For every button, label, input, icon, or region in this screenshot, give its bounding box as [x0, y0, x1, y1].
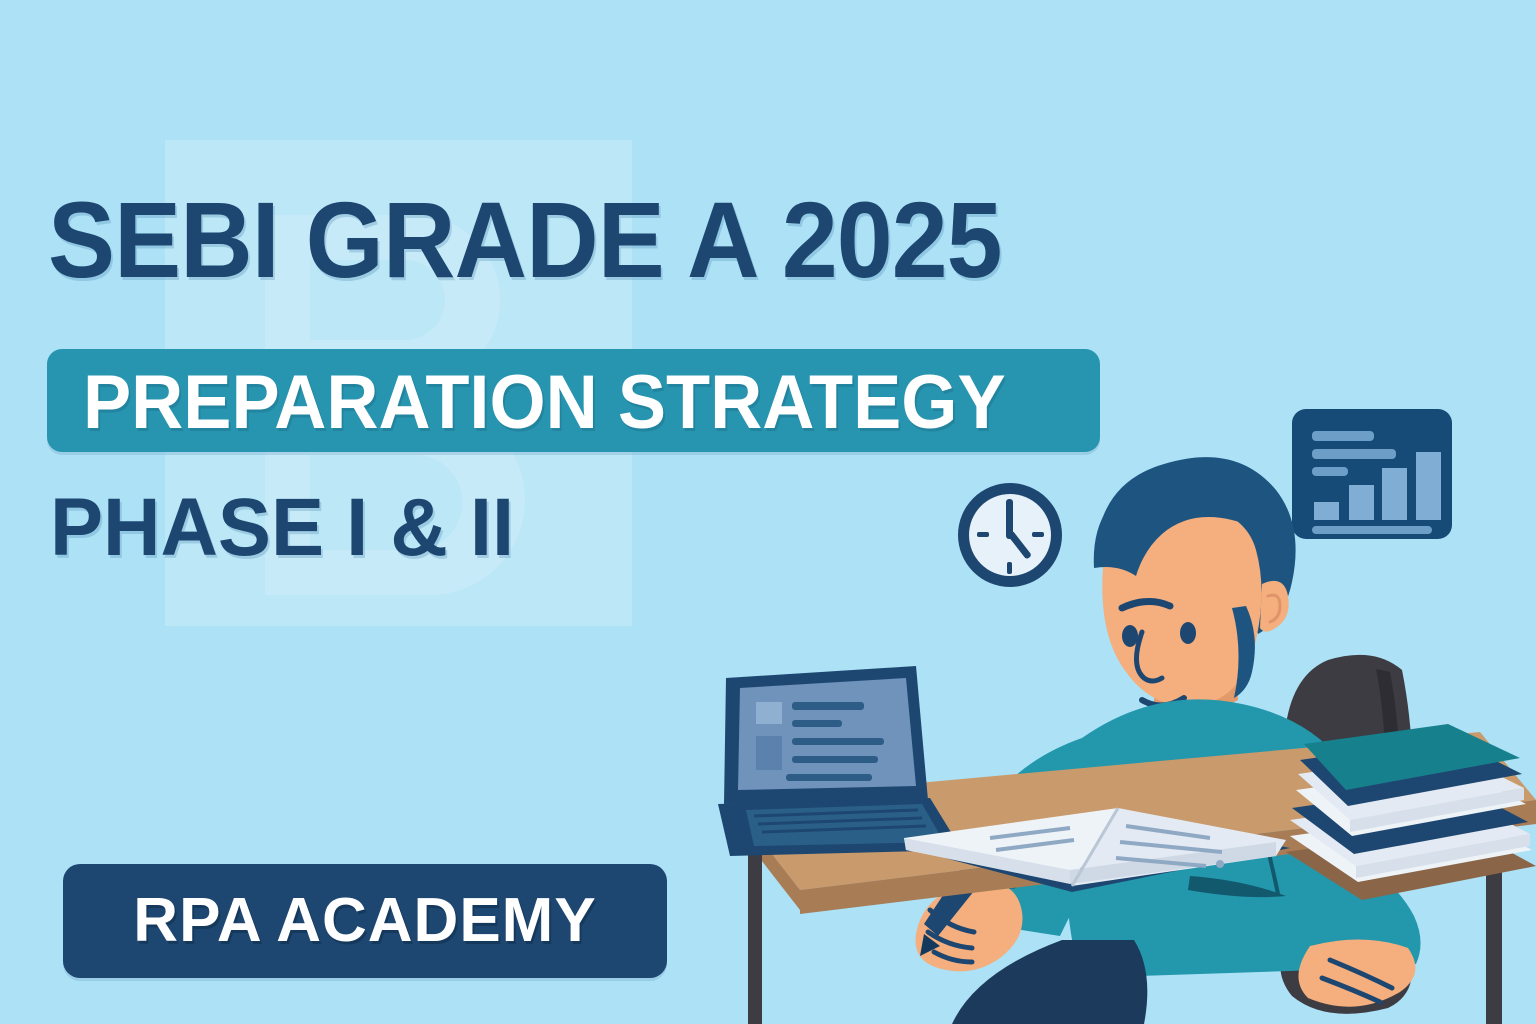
- laptop: [718, 666, 962, 856]
- wall-chart-panel: [1292, 409, 1452, 539]
- study-scene-illustration: [690, 380, 1536, 1024]
- wall-clock-icon: [958, 483, 1062, 587]
- page-subtitle: PHASE I & II: [50, 487, 514, 569]
- page-title: SEBI GRADE A 2025: [48, 186, 1002, 294]
- brand-badge-label: RPA ACADEMY: [63, 890, 667, 952]
- brand-badge: RPA ACADEMY: [63, 864, 667, 978]
- poster-canvas: SEBI GRADE A 2025 PREPARATION STRATEGY P…: [0, 0, 1536, 1024]
